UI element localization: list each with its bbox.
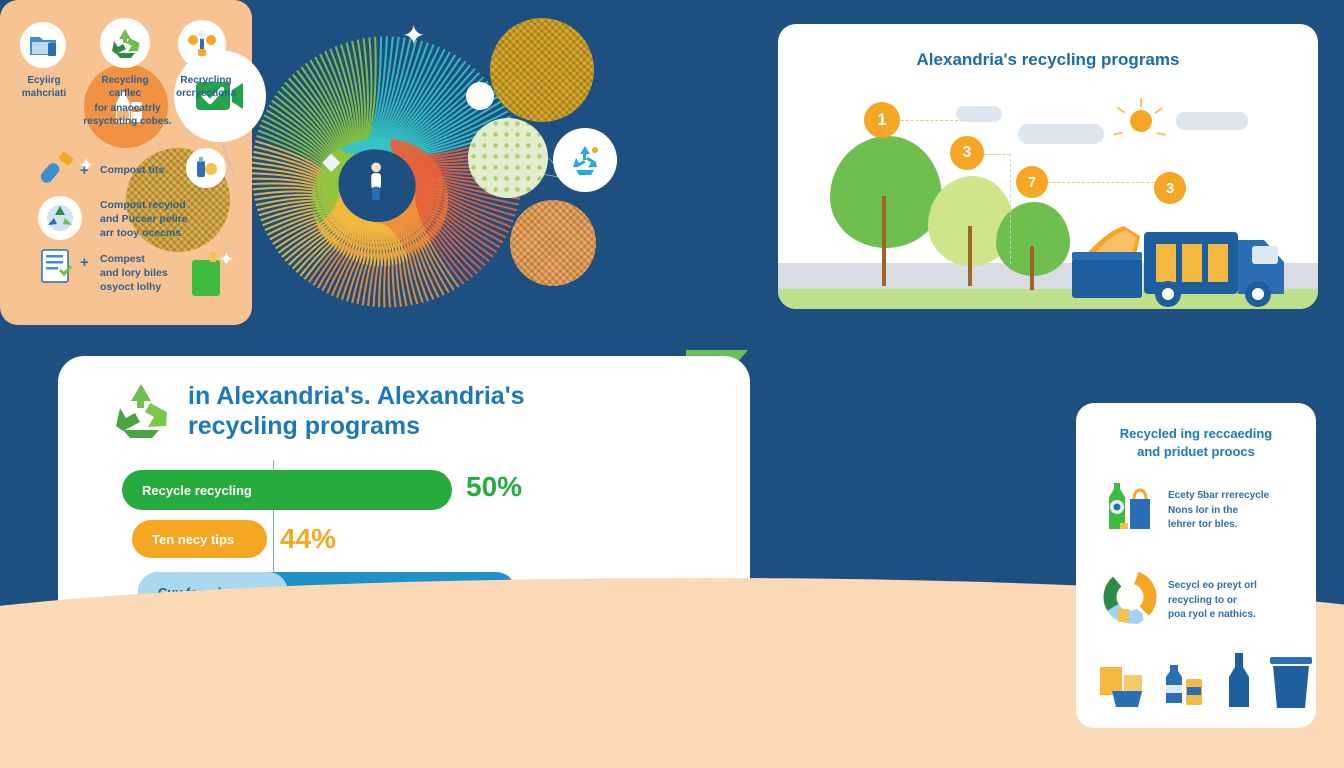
step-badge-3[interactable]: 7 bbox=[1016, 166, 1048, 198]
recycling-bin-folder-icon bbox=[28, 31, 58, 59]
sparkle-icon: ✦ bbox=[402, 22, 425, 50]
people-speech-icon-circle[interactable] bbox=[178, 20, 226, 68]
leader-line bbox=[1010, 154, 1011, 264]
bar-value: 50% bbox=[466, 471, 522, 503]
fact-row-2-text: Secycl eo preyt orl recycling to or poa … bbox=[1168, 579, 1300, 623]
sun-icon bbox=[1130, 110, 1152, 132]
recycle-node[interactable] bbox=[553, 128, 617, 192]
cloud-icon bbox=[1176, 112, 1248, 130]
chart-header: in Alexandria's. Alexandria's recycling … bbox=[110, 382, 618, 441]
gold-texture-node-2[interactable] bbox=[490, 18, 594, 122]
bar-ten-necy-tips[interactable]: Ten necy tips bbox=[132, 520, 267, 558]
sun-ray bbox=[1154, 107, 1162, 113]
recycling-bin-folder-icon-circle[interactable] bbox=[20, 22, 66, 68]
facts-card: Recycled ing reccaeding and priduet proo… bbox=[1076, 403, 1316, 728]
bottle-bag-icon bbox=[1100, 481, 1158, 533]
tip-label-3: Recrycling orcryectiona bbox=[166, 74, 246, 100]
bar-value: 44% bbox=[280, 523, 336, 555]
bar-row: Recycle recycling 50% bbox=[122, 468, 722, 520]
orange-texture-node[interactable] bbox=[510, 200, 596, 286]
donut-chart-icon bbox=[1102, 571, 1158, 627]
plastic-bottle-can-icon bbox=[1160, 659, 1210, 709]
sun-ray bbox=[1114, 132, 1123, 135]
sun-ray bbox=[1117, 107, 1125, 113]
recycle-symbol-icon bbox=[566, 141, 604, 179]
tip-label-2: Recycling carflec bbox=[88, 74, 162, 100]
recycle-symbol-icon bbox=[109, 27, 141, 59]
programs-card: Alexandria's recycling programs bbox=[778, 24, 1318, 309]
bar-recycle-recycling[interactable]: Recycle recycling bbox=[122, 470, 452, 510]
cleaning-supplies-icon bbox=[193, 155, 219, 181]
step-badge-1[interactable]: 1 bbox=[864, 102, 900, 138]
recycle-globe-icon bbox=[45, 203, 75, 233]
recycle-symbol-icon bbox=[110, 382, 172, 438]
facts-card-title: Recycled ing reccaeding and priduet proo… bbox=[1092, 425, 1300, 460]
step-badge-4[interactable]: 3 bbox=[1154, 172, 1186, 204]
people-speech-icon bbox=[185, 29, 219, 59]
recycle-symbol-icon-circle[interactable] bbox=[100, 18, 150, 68]
tips-card: Ecyiirg mahcriati Recycling carflec Recr… bbox=[0, 0, 252, 325]
recycle-bin-icon bbox=[1266, 655, 1316, 709]
step-badge-2[interactable]: 3 bbox=[950, 136, 984, 170]
plus-icon: + bbox=[80, 162, 89, 179]
tip-row-2-text: Compost recyiod and Puceer pelire arr to… bbox=[100, 198, 218, 241]
bar-label: Recycle recycling bbox=[142, 483, 252, 498]
bar-label: Ten necy tips bbox=[152, 532, 234, 547]
blue-recycling-truck bbox=[1070, 196, 1300, 308]
small-green-tree bbox=[996, 202, 1070, 288]
chart-title: in Alexandria's. Alexandria's recycling … bbox=[188, 382, 618, 441]
tip-label-1: Ecyiirg mahcriati bbox=[8, 74, 80, 100]
sun-ray bbox=[1157, 132, 1166, 135]
sparkle-icon: ◆ bbox=[322, 150, 340, 174]
lime-dot-node[interactable] bbox=[468, 118, 548, 198]
test-tube-icon bbox=[40, 152, 78, 186]
grocery-basket-icon bbox=[1098, 661, 1154, 709]
tips-subtitle: for anaocatrly resyctoting cobes. bbox=[40, 102, 215, 128]
bar-row: Ten necy tips 44% bbox=[122, 520, 722, 572]
cloud-icon bbox=[956, 106, 1002, 122]
infographic-canvas: ✦ ✦ ✦ ◆ Alexandria's recycling programs bbox=[0, 0, 1344, 768]
programs-card-title: Alexandria's recycling programs bbox=[778, 50, 1318, 70]
large-green-tree bbox=[830, 136, 942, 286]
glass-bottle-icon bbox=[1222, 651, 1256, 709]
green-bin-icon bbox=[188, 252, 224, 298]
document-list-icon bbox=[40, 248, 74, 286]
white-dot-node bbox=[466, 82, 494, 110]
cloud-icon bbox=[1018, 124, 1104, 144]
plus-icon: + bbox=[80, 254, 89, 271]
sun-ray bbox=[1140, 98, 1142, 107]
cleaning-supplies-icon-circle[interactable] bbox=[186, 148, 226, 188]
fact-row-1-text: Ecety 5bar rrerecycle Nons lor in the le… bbox=[1168, 489, 1298, 533]
recycle-globe-icon-circle[interactable] bbox=[38, 196, 82, 240]
